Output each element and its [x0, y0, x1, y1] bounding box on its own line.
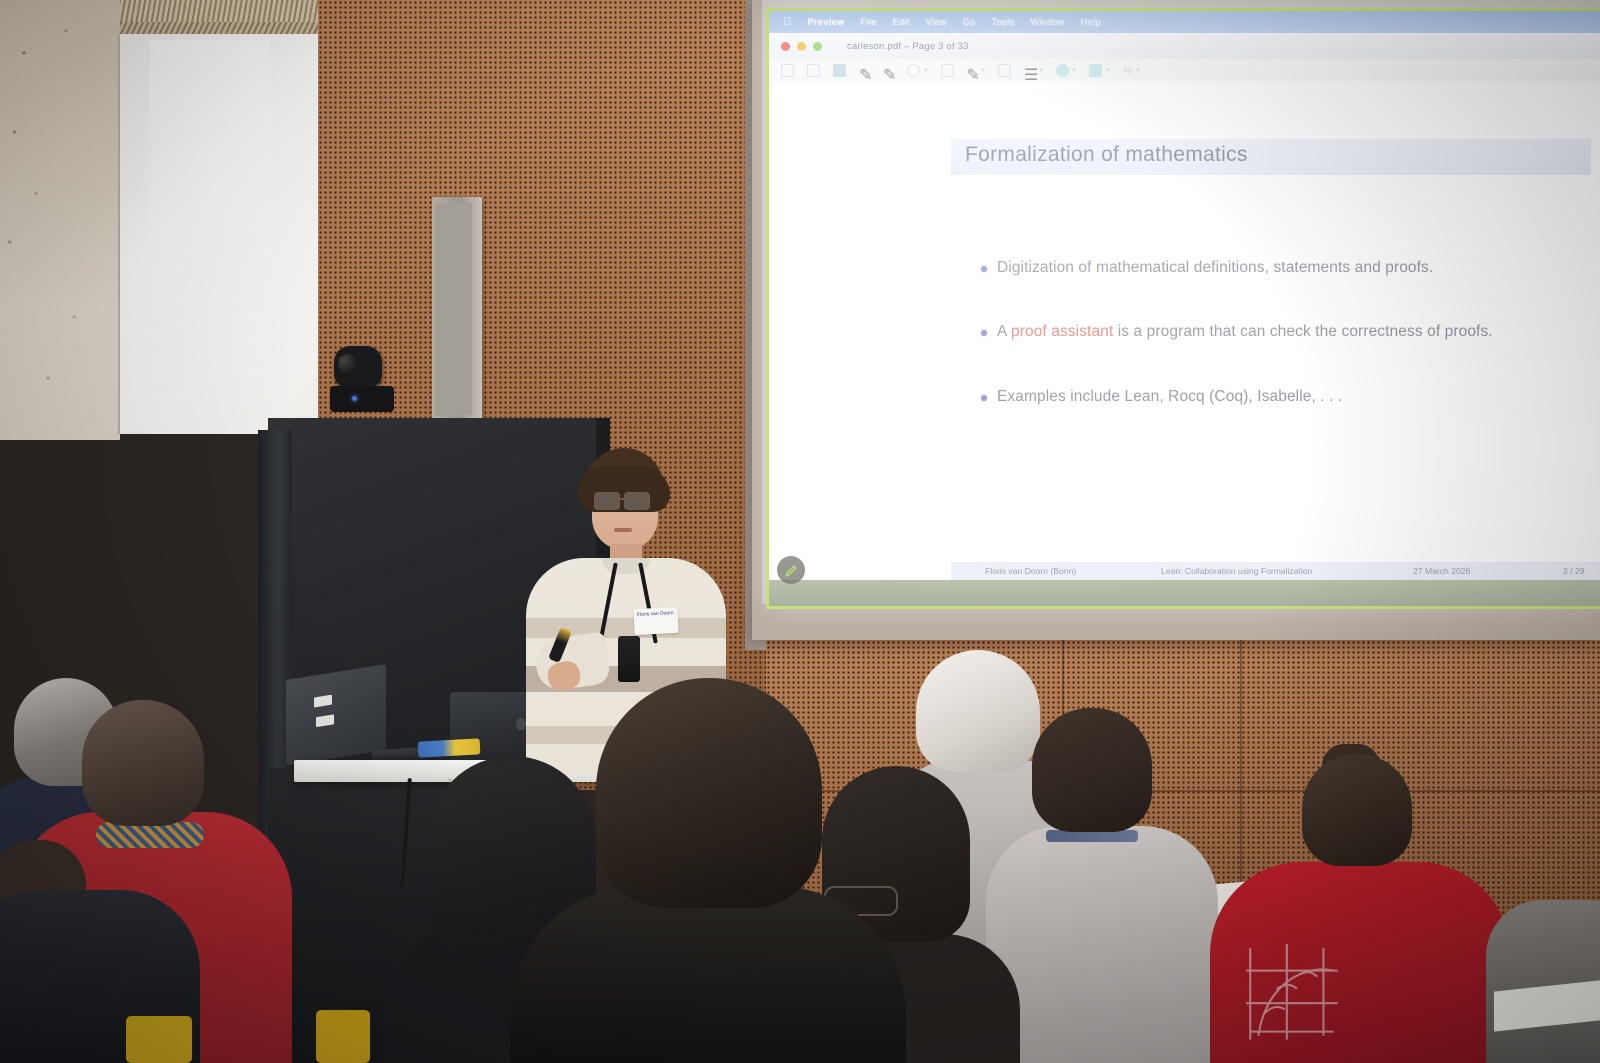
audience-member	[916, 650, 1040, 772]
lanyard-microphone-pack	[618, 636, 640, 682]
footer-date: 27 March 2026	[1413, 566, 1470, 576]
bullet-text: Digitization of mathematical definitions…	[997, 257, 1433, 279]
auditorium-chair	[316, 1010, 370, 1063]
audience-member	[986, 826, 1218, 1063]
menu-help[interactable]: Help	[1081, 17, 1101, 27]
bullet-dot-icon	[981, 330, 987, 336]
bullet-text-lead: A	[997, 323, 1011, 340]
audience-member	[1032, 708, 1152, 832]
chevron-down-icon[interactable]: ▾	[1136, 66, 1140, 74]
chevron-down-icon[interactable]: ▾	[924, 66, 928, 74]
sidebar-icon[interactable]	[781, 64, 794, 77]
camera-status-led	[352, 396, 357, 401]
slide-bullet-2: A proof assistant is a program that can …	[981, 321, 1561, 343]
crop-icon[interactable]	[941, 64, 954, 77]
pdf-slide: Formalization of mathematics Digitizatio…	[769, 81, 1600, 606]
sweater-stripe	[526, 618, 726, 638]
align-icon[interactable]: ☰	[1024, 65, 1035, 76]
preview-toolbar: ✎ ✎ ▾ ✎ ▾ ☰ ▾ ▾ ▾ Aa ▾	[769, 59, 1600, 81]
audience-member	[1302, 754, 1412, 866]
eyeglasses-left-lens	[594, 492, 620, 510]
slide-bullet-1: Digitization of mathematical definitions…	[981, 257, 1561, 279]
slide-bullet-list: Digitization of mathematical definitions…	[981, 257, 1561, 450]
projection-bottom-strip	[769, 580, 1600, 606]
bullet-text: Examples include Lean, Rocq (Coq), Isabe…	[997, 386, 1342, 408]
signature-icon[interactable]: ✎	[967, 65, 978, 76]
bullet-dot-icon	[981, 266, 987, 272]
close-button[interactable]	[781, 42, 790, 51]
minimize-button[interactable]	[797, 42, 806, 51]
menu-tools[interactable]: Tools	[991, 17, 1014, 27]
slide-footer: Floris van Doorn (Bonn) Lean: Collaborat…	[951, 562, 1600, 580]
bullet-text: A proof assistant is a program that can …	[997, 321, 1493, 343]
highlighter-icon[interactable]: ✎	[883, 65, 894, 76]
audience-member	[596, 678, 822, 908]
fill-color-icon[interactable]	[1089, 64, 1102, 77]
font-icon[interactable]: Aa	[1123, 66, 1133, 75]
audience-member	[510, 886, 906, 1063]
lecture-hall-scene:  Preview File Edit View Go Tools Window…	[0, 0, 1600, 1063]
apple-logo-icon[interactable]: 	[783, 16, 792, 28]
bullet-text-highlight: proof assistant	[1011, 323, 1113, 340]
slide-bullet-3: Examples include Lean, Rocq (Coq), Isabe…	[981, 386, 1561, 408]
stroke-color-icon[interactable]	[1056, 64, 1069, 77]
pencil-edit-icon[interactable]	[777, 556, 805, 584]
menu-go[interactable]: Go	[963, 17, 976, 27]
footer-talk-title: Lean: Collaboration using Formalization	[1161, 566, 1312, 576]
audience-member	[82, 700, 204, 826]
eyeglasses-bridge	[618, 498, 624, 500]
laptop-sticker	[316, 714, 334, 727]
projected-application-window:  Preview File Edit View Go Tools Window…	[766, 8, 1600, 609]
camera-base	[330, 386, 394, 412]
usb-c-dongle	[418, 738, 481, 757]
menu-window[interactable]: Window	[1030, 17, 1064, 27]
shapes-icon[interactable]	[907, 64, 920, 77]
menu-file[interactable]: File	[860, 17, 876, 27]
concrete-wall	[0, 0, 120, 440]
eyeglasses-right-lens	[624, 492, 650, 510]
window-titlebar: carleson.pdf – Page 3 of 33	[769, 33, 1600, 59]
auditorium-chair	[126, 1016, 192, 1063]
zoom-button[interactable]	[813, 42, 822, 51]
laptop-presenter-left[interactable]	[286, 664, 386, 766]
camera-lens	[338, 354, 356, 374]
jacket-print-graphic	[1236, 930, 1358, 1048]
text-box-icon[interactable]	[998, 64, 1011, 77]
menu-view[interactable]: View	[926, 17, 947, 27]
macos-menubar:  Preview File Edit View Go Tools Window…	[769, 11, 1600, 33]
menu-preview[interactable]: Preview	[808, 17, 845, 27]
footer-page-number: 3 / 29	[1563, 566, 1585, 576]
chevron-down-icon[interactable]: ▾	[1106, 66, 1110, 74]
presenter-mouth	[614, 528, 632, 532]
chevron-down-icon[interactable]: ▾	[1039, 66, 1043, 74]
window-title: carleson.pdf – Page 3 of 33	[847, 41, 969, 52]
chevron-down-icon[interactable]: ▾	[1073, 66, 1077, 74]
markup-pen-icon[interactable]: ✎	[859, 65, 870, 76]
menu-edit[interactable]: Edit	[893, 17, 910, 27]
column-loudspeaker	[432, 197, 482, 419]
laptop-sticker	[314, 695, 332, 708]
slide-title: Formalization of mathematics	[965, 143, 1248, 167]
bullet-dot-icon	[981, 395, 987, 401]
footer-author: Floris van Doorn (Bonn)	[985, 566, 1076, 576]
page-view-icon[interactable]	[807, 64, 820, 77]
whiteboard-glare	[150, 40, 270, 420]
chevron-down-icon[interactable]: ▾	[982, 66, 986, 74]
thumbnail-icon[interactable]	[833, 64, 846, 77]
bullet-text-tail: is a program that can check the correctn…	[1113, 323, 1492, 340]
